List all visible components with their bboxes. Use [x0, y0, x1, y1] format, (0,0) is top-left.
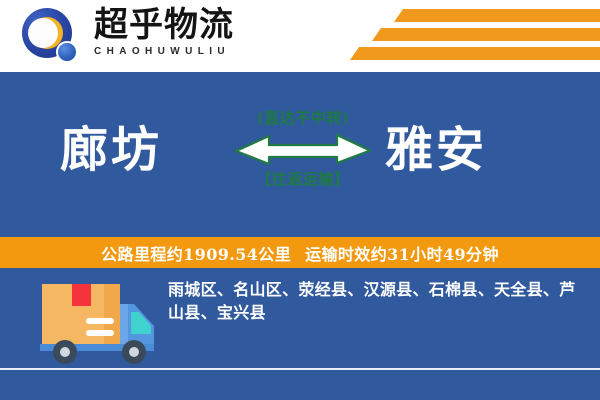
stripe-3	[350, 47, 600, 60]
footer-divider	[0, 368, 600, 370]
info-bar-content: 公路里程约1909.54公里运输时效约31小时49分钟	[101, 241, 499, 265]
brand-pinyin: CHAOHUWULIU	[94, 45, 304, 59]
brand-text-block: 超乎物流 CHAOHUWULIU	[94, 6, 304, 59]
circle-crescent-logo-icon	[22, 8, 82, 66]
origin-city: 廊坊	[60, 122, 162, 178]
route-note-roundtrip: 【往返运输】	[228, 169, 378, 189]
banner-header: 超乎物流 CHAOHUWULIU	[0, 0, 600, 72]
logo-small-dot	[56, 41, 78, 63]
duration-text: 运输时效约31小时49分钟	[305, 245, 499, 264]
delivery-truck-icon	[30, 276, 165, 368]
distance-text: 公路里程约1909.54公里	[101, 245, 291, 264]
logistics-route-banner: 超乎物流 CHAOHUWULIU 廊坊 (直达不中转) 【往返运输】 雅安 公路…	[0, 0, 600, 400]
header-stripes-decoration	[340, 9, 600, 65]
brand-name: 超乎物流	[94, 6, 304, 44]
stripe-1	[394, 9, 600, 22]
coverage-panel: 雨城区、名山区、荥经县、汉源县、石棉县、天全县、芦山县、宝兴县	[0, 268, 600, 400]
route-info-bar: 公路里程约1909.54公里运输时效约31小时49分钟	[0, 237, 600, 268]
route-panel: 廊坊 (直达不中转) 【往返运输】 雅安	[0, 72, 600, 237]
route-note-direct: (直达不中转)	[228, 108, 378, 128]
double-headed-arrow-icon	[233, 132, 373, 166]
logo-crescent-inner	[28, 18, 58, 48]
coverage-areas-text: 雨城区、名山区、荥经县、汉源县、石棉县、天全县、芦山县、宝兴县	[168, 278, 586, 324]
destination-city: 雅安	[385, 122, 487, 178]
route-middle-block: (直达不中转) 【往返运输】	[228, 108, 378, 189]
stripe-2	[372, 28, 600, 41]
